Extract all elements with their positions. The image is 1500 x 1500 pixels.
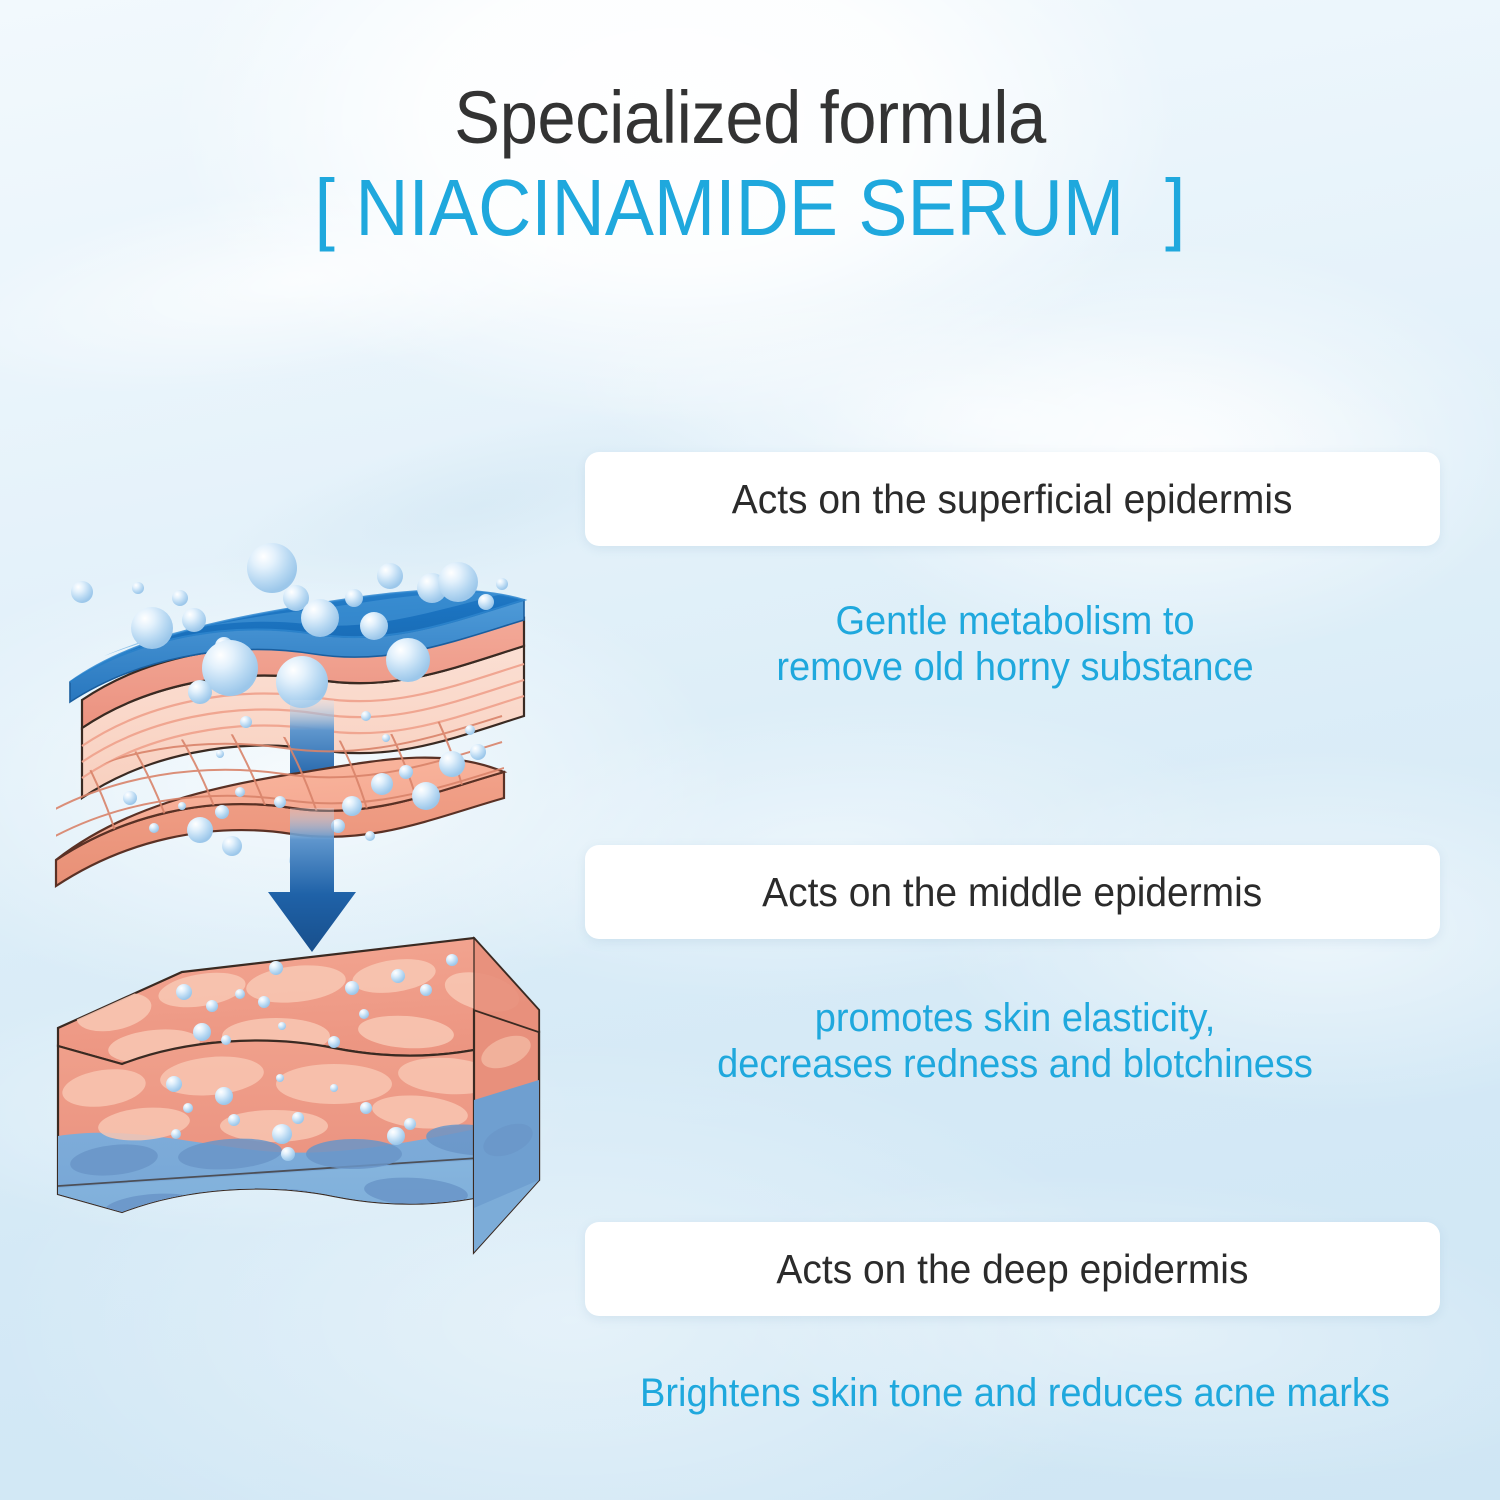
- product-name-title: [ NIACINAMIDE SERUM ]: [60, 160, 1440, 256]
- infographic-poster: Specialized formula [ NIACINAMIDE SERUM …: [0, 0, 1500, 1500]
- caption-line: remove old horny substance: [607, 644, 1424, 690]
- background-cloud-wisp: [689, 1141, 1500, 1500]
- caption-middle-epidermis: promotes skin elasticity, decreases redn…: [585, 995, 1445, 1087]
- caption-line: Brightens skin tone and reduces acne mar…: [607, 1370, 1424, 1416]
- panel-label: Acts on the middle epidermis: [762, 869, 1262, 916]
- panel-superficial-epidermis: Acts on the superficial epidermis: [585, 452, 1440, 546]
- page-title: Specialized formula: [53, 76, 1448, 160]
- caption-line: decreases redness and blotchiness: [607, 1041, 1424, 1087]
- caption-line: promotes skin elasticity,: [607, 995, 1424, 1041]
- caption-superficial-epidermis: Gentle metabolism to remove old horny su…: [585, 598, 1445, 690]
- skin-layers-diagram: [34, 540, 564, 1300]
- panel-label: Acts on the deep epidermis: [776, 1246, 1248, 1293]
- caption-line: Gentle metabolism to: [607, 598, 1424, 644]
- panel-deep-epidermis: Acts on the deep epidermis: [585, 1222, 1440, 1316]
- caption-deep-epidermis: Brightens skin tone and reduces acne mar…: [585, 1370, 1445, 1416]
- panel-label: Acts on the superficial epidermis: [732, 476, 1293, 523]
- deep-epidermis-block: [58, 938, 541, 1270]
- title-block: Specialized formula [ NIACINAMIDE SERUM …: [0, 76, 1500, 256]
- panel-middle-epidermis: Acts on the middle epidermis: [585, 845, 1440, 939]
